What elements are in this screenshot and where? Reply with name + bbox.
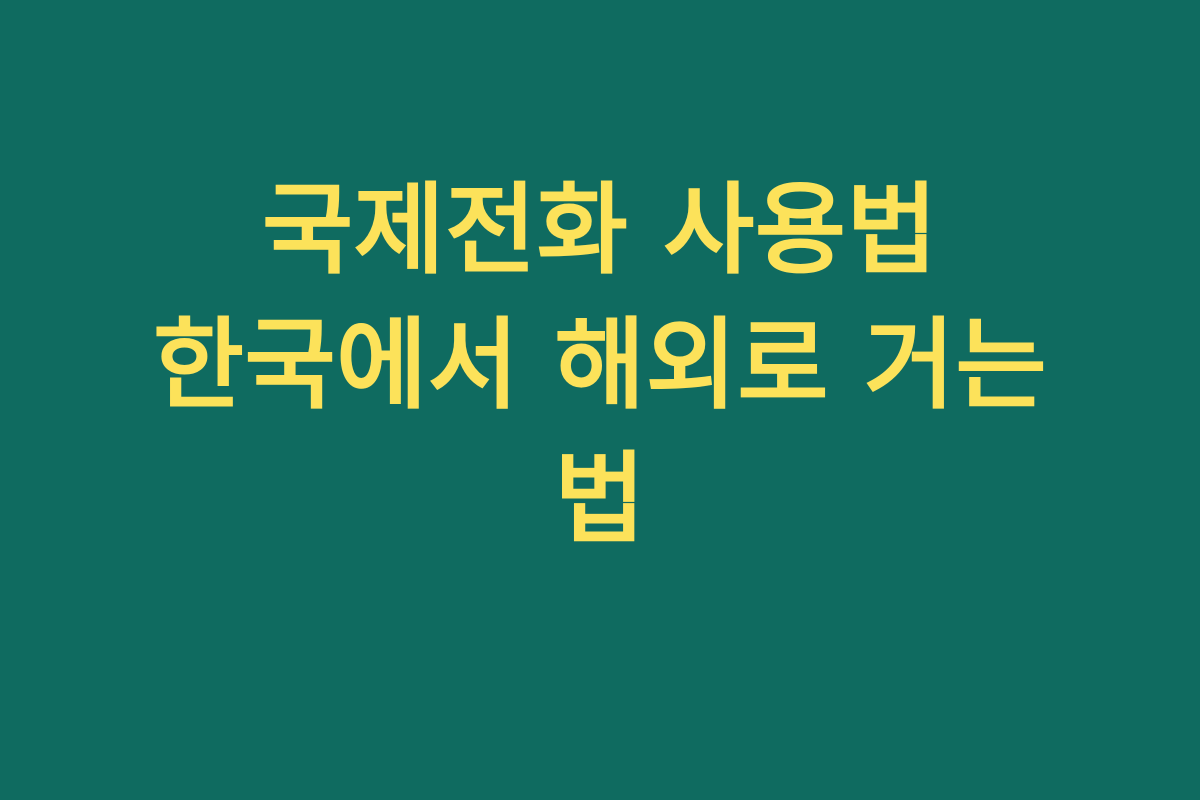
headline-block: 국제전화 사용법 한국에서 해외로 거는 법: [80, 164, 1120, 568]
banner-headline: 국제전화 사용법 한국에서 해외로 거는 법: [90, 164, 1110, 568]
banner-canvas: 국제전화 사용법 한국에서 해외로 거는 법: [0, 0, 1200, 800]
